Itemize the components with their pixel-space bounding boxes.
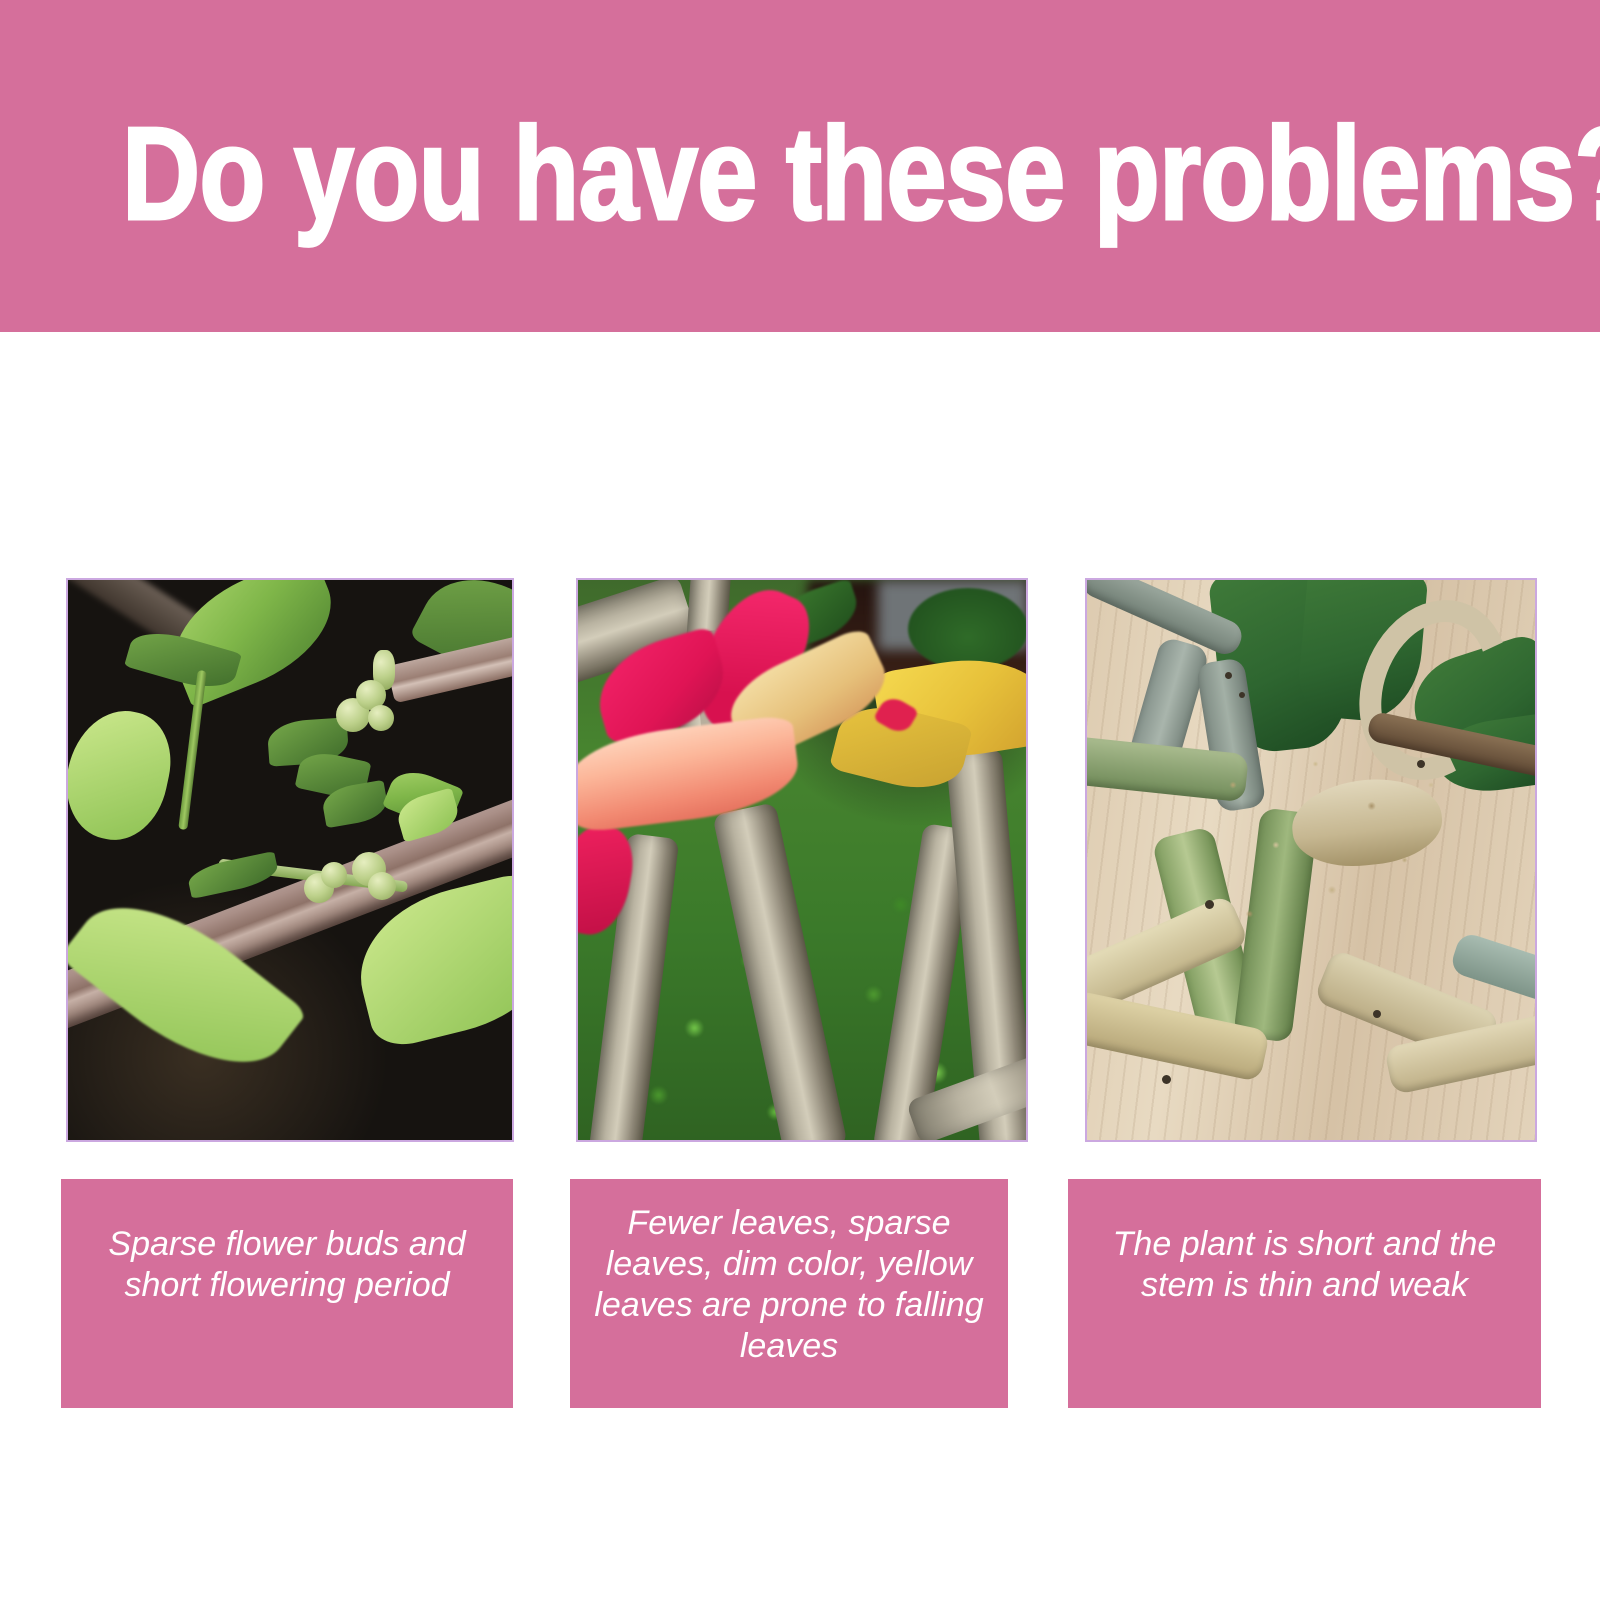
caption-box-2: Fewer leaves, sparse leaves, dim color, … xyxy=(570,1179,1008,1408)
problem-card-1 xyxy=(66,578,514,1142)
caption-box-1: Sparse flower buds and short flowering p… xyxy=(61,1179,513,1408)
problem-cards-container: Sparse flower buds and short flowering p… xyxy=(0,0,1600,1600)
problem-card-3 xyxy=(1085,578,1537,1142)
caption-box-3: The plant is short and the stem is thin … xyxy=(1068,1179,1541,1408)
problem-photo-yellow-falling-leaves xyxy=(576,578,1028,1142)
problem-card-2 xyxy=(576,578,1028,1142)
problem-photo-sparse-flower-buds xyxy=(66,578,514,1142)
problem-photo-weak-thin-roots xyxy=(1085,578,1537,1142)
